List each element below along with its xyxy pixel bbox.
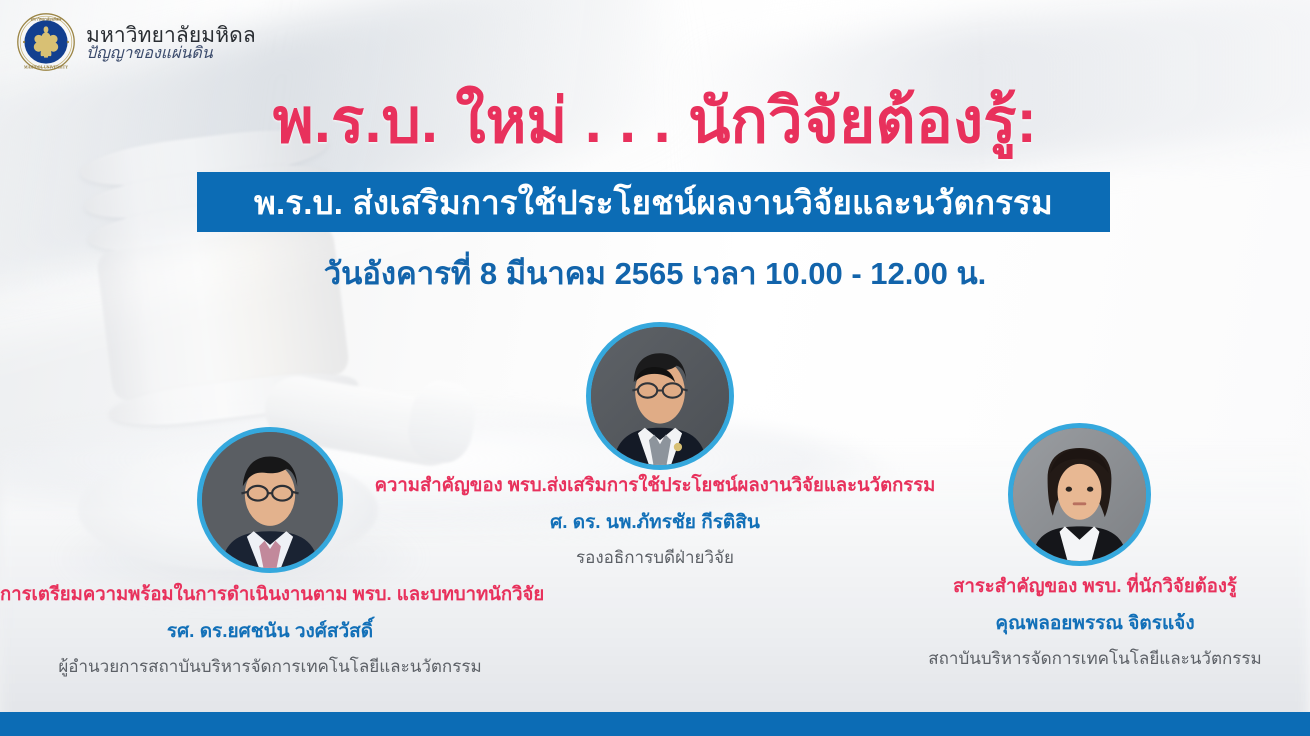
svg-text:มหาวิทยาลัยมหิดล: มหาวิทยาลัยมหิดล [31,17,62,22]
university-tagline: ปัญญาของแผ่นดิน [86,45,213,62]
speaker-portrait-icon-right [1008,423,1151,566]
university-name: มหาวิทยาลัยมหิดล [86,24,256,47]
footer-bar [0,712,1310,736]
speaker-portrait-icon-left [197,427,343,573]
speaker-name: คุณพลอยพรรณ จิตรแจ้ง [880,608,1310,638]
speaker-info-left: การเตรียมความพร้อมในการดำเนินงานตาม พรบ.… [0,580,540,680]
speaker-name: รศ. ดร.ยศชนัน วงศ์สวัสดิ์ [0,616,540,646]
speaker-role: ผู้อำนวยการสถาบันบริหารจัดการเทคโนโลยีแล… [0,653,540,680]
speaker-portrait-icon-center [586,322,734,470]
act-name-banner-text: พ.ร.บ. ส่งเสริมการใช้ประโยชน์ผลงานวิจัยแ… [254,176,1053,229]
speaker-topic: การเตรียมความพร้อมในการดำเนินงานตาม พรบ.… [0,580,540,609]
mahidol-logo: มหาวิทยาลัยมหิดล MAHIDOL UNIVERSITY มหาว… [16,12,256,72]
speaker-topic: สาระสำคัญของ พรบ. ที่นักวิจัยต้องรู้ [880,572,1310,601]
seminar-poster: มหาวิทยาลัยมหิดล MAHIDOL UNIVERSITY มหาว… [0,0,1310,736]
act-name-banner: พ.ร.บ. ส่งเสริมการใช้ประโยชน์ผลงานวิจัยแ… [197,172,1110,232]
speaker-role: สถาบันบริหารจัดการเทคโนโลยีและนวัตกรรม [880,645,1310,672]
event-date-time: วันอังคารที่ 8 มีนาคม 2565 เวลา 10.00 - … [0,248,1310,298]
svg-text:MAHIDOL UNIVERSITY: MAHIDOL UNIVERSITY [24,66,68,70]
speaker-info-right: สาระสำคัญของ พรบ. ที่นักวิจัยต้องรู้ คุณ… [880,572,1310,672]
mahidol-university-seal-icon: มหาวิทยาลัยมหิดล MAHIDOL UNIVERSITY [16,12,76,72]
page-title: พ.ร.บ. ใหม่ . . . นักวิจัยต้องรู้: [0,72,1310,170]
